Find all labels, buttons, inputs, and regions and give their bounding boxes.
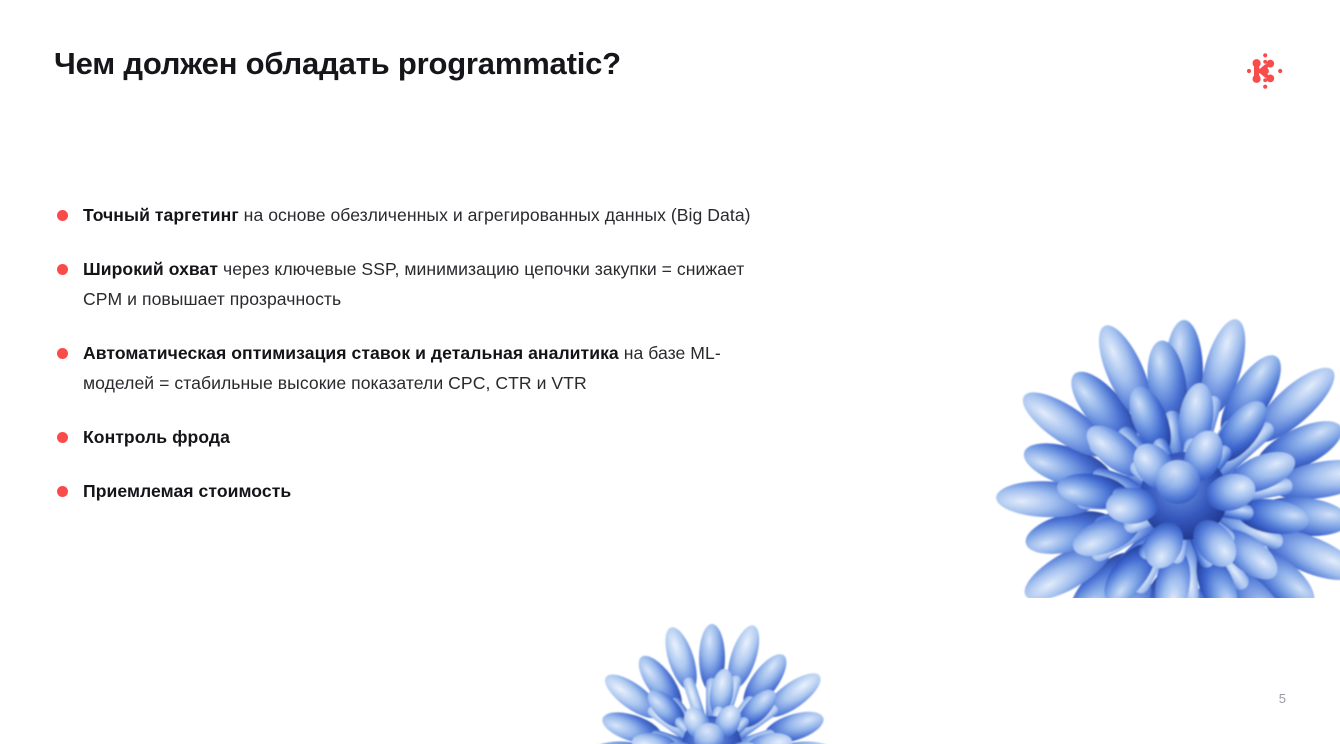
list-item-lead: Автоматическая оптимизация ставок и дета…: [83, 343, 619, 363]
bullet-dot-icon: [57, 486, 68, 497]
slide: Чем должен обладать programmatic?: [0, 0, 1340, 744]
list-item-lead: Контроль фрода: [83, 427, 230, 447]
list-item: Автоматическая оптимизация ставок и дета…: [56, 338, 756, 398]
list-item-lead: Приемлемая стоимость: [83, 481, 291, 501]
bullet-dot-icon: [57, 210, 68, 221]
list-item-rest: на основе обезличенных и агрегированных …: [239, 205, 751, 225]
list-item-lead: Широкий охват: [83, 259, 218, 279]
list-item: Контроль фрода: [56, 422, 756, 452]
list-item: Широкий охват через ключевые SSP, миними…: [56, 254, 756, 314]
list-item: Точный таргетинг на основе обезличенных …: [56, 200, 756, 230]
blue-spiky-sphere-small: [596, 606, 828, 744]
bullet-dot-icon: [57, 264, 68, 275]
page-title: Чем должен обладать programmatic?: [54, 46, 621, 82]
page-number: 5: [1279, 691, 1286, 706]
bullet-dot-icon: [57, 348, 68, 359]
bullet-dot-icon: [57, 432, 68, 443]
bullet-list: Точный таргетинг на основе обезличенных …: [56, 200, 756, 506]
list-item: Приемлемая стоимость: [56, 476, 756, 506]
list-item-lead: Точный таргетинг: [83, 205, 239, 225]
blue-spiky-sphere-large: [988, 186, 1340, 598]
kokoc-dot-cluster-logo: [1244, 50, 1286, 92]
